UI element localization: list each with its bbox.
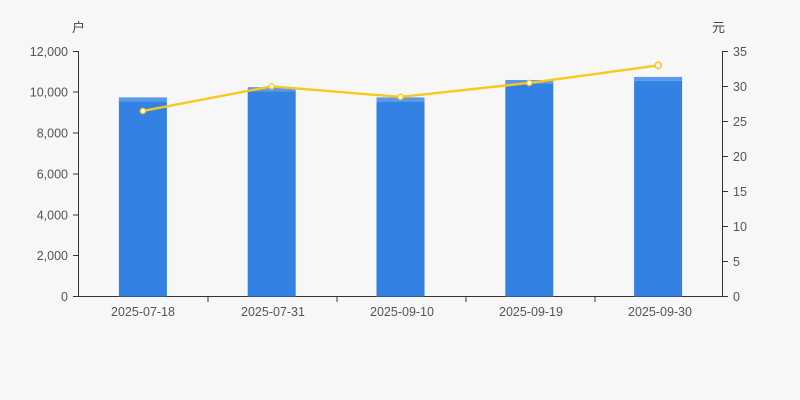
bar[interactable] [634,81,682,297]
right-tick-label: 10 [733,220,747,234]
line-marker[interactable] [269,84,274,89]
left-tick-label: 2,000 [37,249,68,263]
right-tick-label: 5 [733,255,740,269]
line-marker[interactable] [140,108,145,113]
bar-cap [634,77,682,81]
bar[interactable] [377,101,425,296]
combo-chart: 户 元 0 2,000 4,000 6,000 8,000 10,000 12,… [0,0,800,400]
chart-container: 户 元 0 2,000 4,000 6,000 8,000 10,000 12,… [0,0,800,400]
bar[interactable] [505,84,553,297]
left-tick-label: 10,000 [30,86,68,100]
x-axis-label: 2025-09-19 [499,305,563,319]
bar[interactable] [248,91,296,296]
line-marker[interactable] [527,80,532,85]
x-axis-label: 2025-07-31 [241,305,305,319]
right-tick-label: 30 [733,80,747,94]
right-tick-label: 15 [733,185,747,199]
left-tick-label: 4,000 [37,208,68,222]
x-axis-label: 2025-09-30 [628,305,692,319]
x-axis-label: 2025-09-10 [370,305,434,319]
left-tick-label: 0 [61,290,68,304]
left-tick-label: 12,000 [30,45,68,59]
bar-cap [119,97,167,101]
right-tick-label: 35 [733,45,747,59]
right-tick-label: 0 [733,290,740,304]
left-tick-label: 8,000 [37,127,68,141]
right-tick-label: 20 [733,150,747,164]
right-tick-label: 25 [733,115,747,129]
left-tick-label: 6,000 [37,167,68,181]
right-axis-unit-label: 元 [712,20,725,35]
bar[interactable] [119,101,167,296]
line-marker[interactable] [398,94,403,99]
line-marker[interactable] [655,62,661,68]
x-axis-label: 2025-07-18 [111,305,175,319]
left-axis-unit-label: 户 [72,20,85,35]
